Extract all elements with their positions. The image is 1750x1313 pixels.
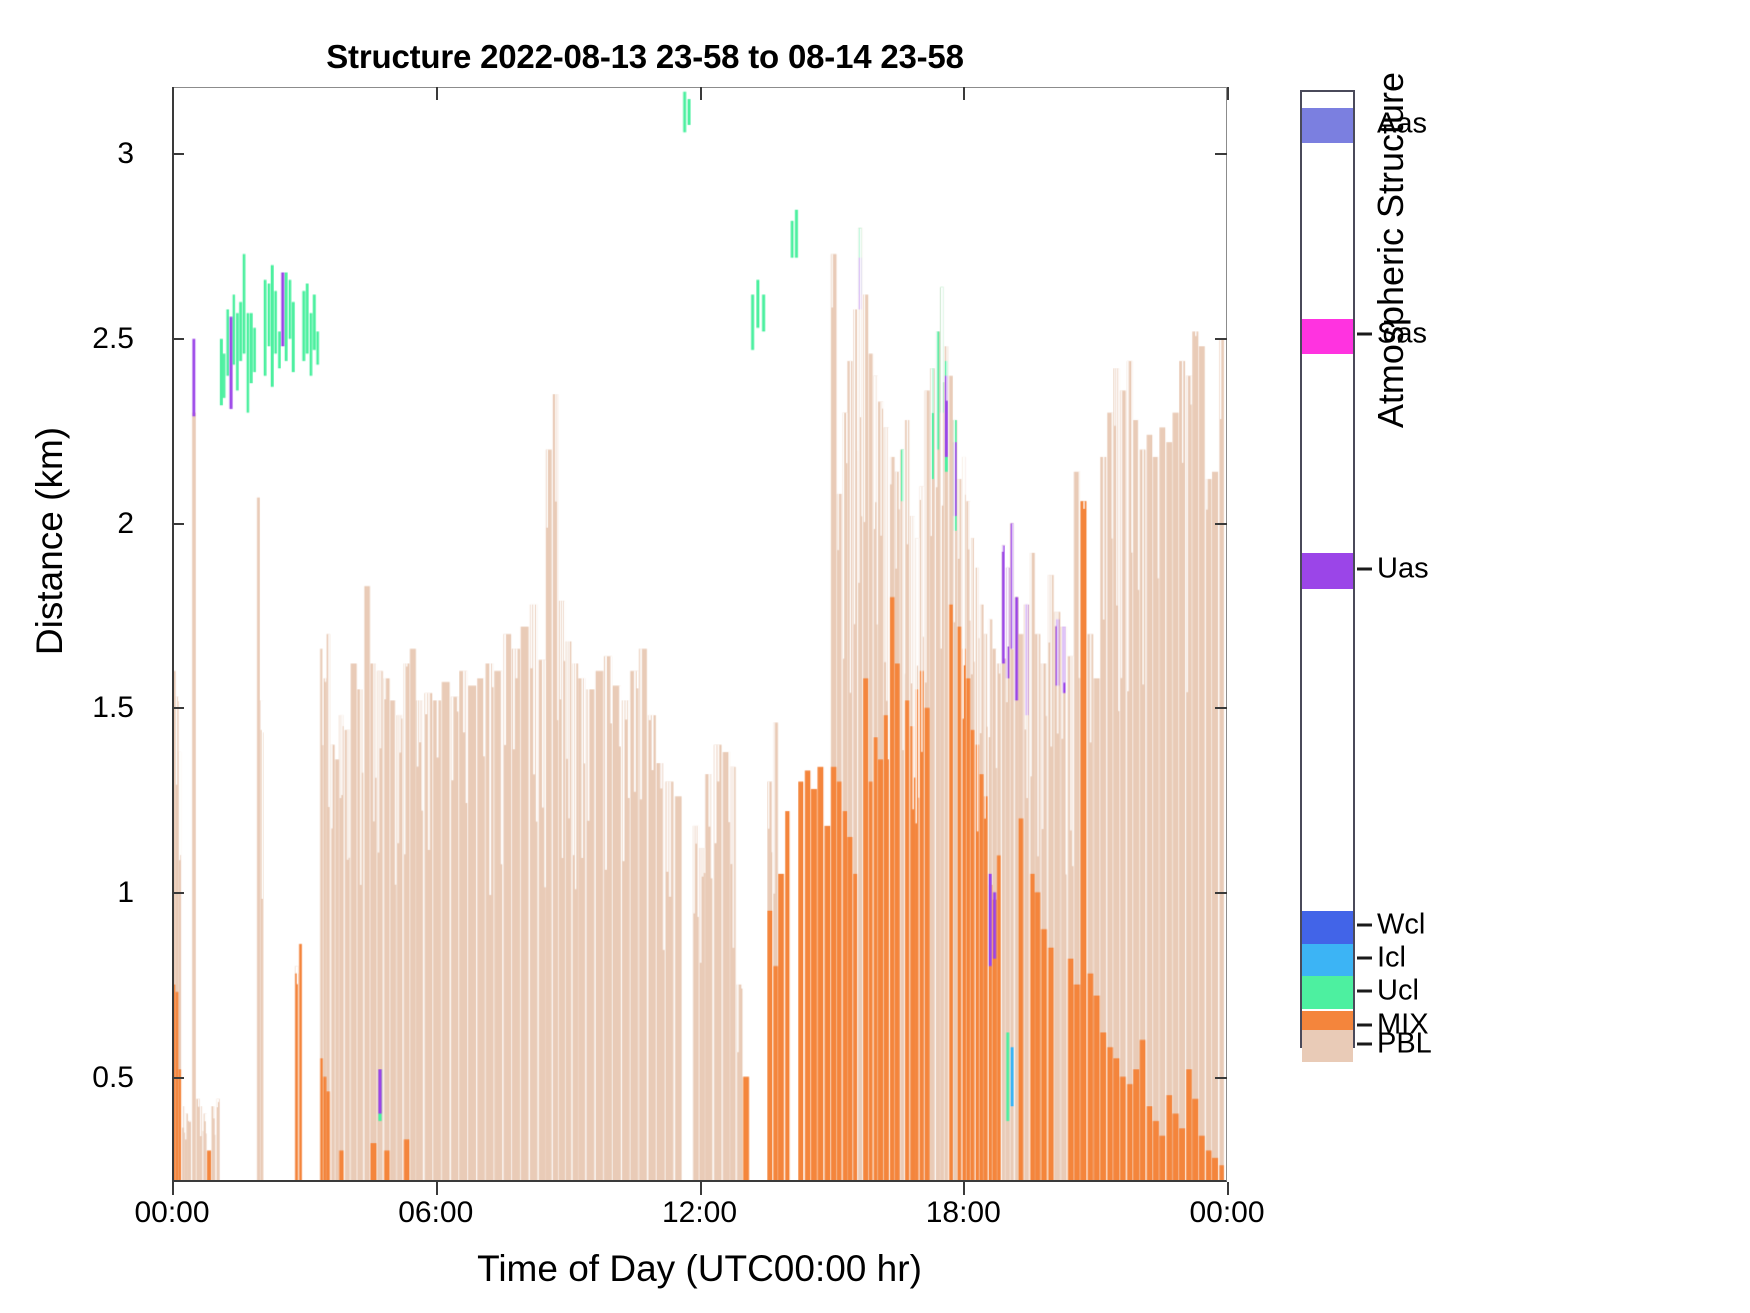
x-tick-label: 06:00 xyxy=(398,1196,473,1230)
y-tick-label: 1.5 xyxy=(92,691,134,725)
colorbar-segment-uas[interactable] xyxy=(1302,553,1353,588)
y-tick-label: 0.5 xyxy=(92,1061,134,1095)
colorbar-tick xyxy=(1357,333,1372,336)
colorbar-tick xyxy=(1357,1043,1372,1046)
x-tick-mark xyxy=(1227,1182,1229,1195)
y-tick-mark xyxy=(172,153,184,155)
y-tick-mark xyxy=(172,338,184,340)
x-tick-label: 18:00 xyxy=(926,1196,1001,1230)
colorbar-tick xyxy=(1357,568,1372,571)
colorbar-tick xyxy=(1357,989,1372,992)
colorbar[interactable] xyxy=(1300,90,1355,1048)
colorbar-segment-ucl[interactable] xyxy=(1302,976,1353,1009)
colorbar-segment-wcl[interactable] xyxy=(1302,911,1353,944)
y-tick-mark-right xyxy=(1215,1077,1227,1079)
x-tick-mark-top xyxy=(700,87,702,100)
x-tick-label: 00:00 xyxy=(1189,1196,1264,1230)
colorbar-label-aas: Aas xyxy=(1377,107,1427,140)
y-tick-mark xyxy=(172,892,184,894)
x-tick-mark xyxy=(436,1182,438,1195)
x-tick-mark-top xyxy=(963,87,965,100)
page-title: Structure 2022-08-13 23-58 to 08-14 23-5… xyxy=(0,38,1290,76)
structure-plot-canvas xyxy=(174,88,1226,1180)
colorbar-label-pbl: PBL xyxy=(1377,1028,1432,1061)
colorbar-title: Atmospheric Structure xyxy=(1370,0,1412,560)
x-tick-mark-top xyxy=(172,87,174,100)
plot-area xyxy=(172,87,1227,1182)
x-tick-mark-top xyxy=(1227,87,1229,100)
x-tick-mark xyxy=(172,1182,174,1195)
y-axis-label: Distance (km) xyxy=(29,221,71,861)
colorbar-label-uas: Uas xyxy=(1377,553,1429,586)
y-tick-label: 3 xyxy=(117,137,134,171)
y-tick-label: 2 xyxy=(117,507,134,541)
y-tick-label: 2.5 xyxy=(92,322,134,356)
colorbar-label-ucl: Ucl xyxy=(1377,974,1419,1007)
y-axis: 0.511.522.53 xyxy=(0,0,172,1313)
y-tick-mark xyxy=(172,1077,184,1079)
x-tick-label: 12:00 xyxy=(662,1196,737,1230)
colorbar-tick xyxy=(1357,1024,1372,1027)
y-tick-mark-right xyxy=(1215,892,1227,894)
x-tick-mark xyxy=(963,1182,965,1195)
x-tick-label: 00:00 xyxy=(134,1196,209,1230)
colorbar-segment-aas[interactable] xyxy=(1302,108,1353,143)
y-tick-mark xyxy=(172,707,184,709)
colorbar-segment-sas[interactable] xyxy=(1302,319,1353,354)
x-axis-label: Time of Day (UTC00:00 hr) xyxy=(172,1248,1227,1290)
y-tick-mark-right xyxy=(1215,707,1227,709)
colorbar-tick xyxy=(1357,956,1372,959)
y-tick-mark-right xyxy=(1215,523,1227,525)
x-tick-mark xyxy=(700,1182,702,1195)
colorbar-label-sas: Sas xyxy=(1377,318,1427,351)
y-tick-label: 1 xyxy=(117,876,134,910)
colorbar-tick xyxy=(1357,924,1372,927)
colorbar-label-icl: Icl xyxy=(1377,941,1406,974)
x-tick-mark-top xyxy=(436,87,438,100)
y-tick-mark xyxy=(172,523,184,525)
y-tick-mark-right xyxy=(1215,153,1227,155)
colorbar-label-wcl: Wcl xyxy=(1377,909,1425,942)
y-tick-mark-right xyxy=(1215,338,1227,340)
colorbar-segment-pbl[interactable] xyxy=(1302,1030,1353,1063)
colorbar-segment-icl[interactable] xyxy=(1302,944,1353,977)
